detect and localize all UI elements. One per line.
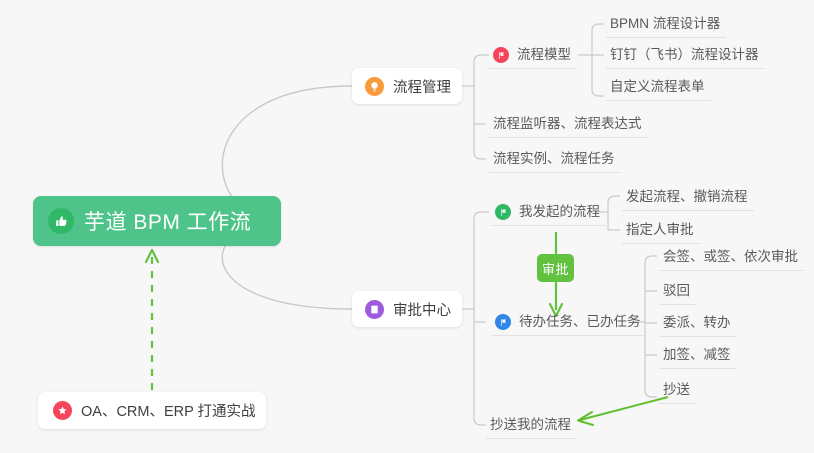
topic-custom-form[interactable]: 自定义流程表单 [606, 76, 711, 101]
arrow-cc-line [580, 397, 668, 420]
topic-process-listener[interactable]: 流程监听器、流程表达式 [489, 113, 648, 138]
branch-label-approval-center: 审批中心 [393, 299, 451, 320]
topic-label: 我发起的流程 [519, 203, 600, 221]
wire-model-to-customform [592, 89, 604, 96]
wire-approval-to-cc [474, 418, 486, 425]
flag-icon [495, 204, 511, 220]
topic-bpmn-designer[interactable]: BPMN 流程设计器 [606, 13, 726, 38]
topic-label: 流程监听器、流程表达式 [493, 115, 642, 133]
topic-label: 抄送 [663, 381, 690, 399]
topic-label: 加签、减签 [663, 346, 731, 364]
callout-node-integration[interactable]: OA、CRM、ERP 打通实战 [38, 392, 266, 429]
root-label: 芋道 BPM 工作流 [84, 206, 251, 236]
topic-label: 驳回 [663, 282, 690, 300]
topic-label: 流程实例、流程任务 [493, 150, 615, 168]
wire-todo-to-cc [645, 390, 657, 397]
arrow-callout-head [146, 250, 158, 262]
approval-tag[interactable]: 审批 [537, 254, 574, 282]
flag-icon [493, 47, 509, 63]
thumbs-up-icon [48, 208, 74, 234]
wire-todo-to-countersign [645, 256, 657, 263]
topic-process-instance[interactable]: 流程实例、流程任务 [489, 148, 621, 173]
topic-label: 钉钉（飞书）流程设计器 [610, 46, 759, 64]
star-icon [53, 401, 72, 420]
wire-approval-to-started [474, 212, 489, 219]
topic-label: BPMN 流程设计器 [610, 15, 720, 33]
lightbulb-icon [365, 77, 384, 96]
branch-node-approval-center[interactable]: 审批中心 [352, 291, 462, 327]
topic-countersign[interactable]: 会签、或签、依次审批 [659, 246, 804, 271]
topic-label: 流程模型 [517, 46, 571, 64]
wire-process-to-instance [474, 152, 486, 159]
flag-icon [495, 314, 511, 330]
root-node[interactable]: 芋道 BPM 工作流 [33, 196, 281, 246]
branch-node-process-management[interactable]: 流程管理 [352, 68, 462, 104]
wire-model-to-bpmn [592, 24, 604, 31]
approval-tag-label: 审批 [542, 259, 569, 278]
topic-todo-done-tasks[interactable]: 待办任务、已办任务 [491, 311, 647, 336]
topic-label: 指定人审批 [626, 221, 694, 239]
topic-assignee-approval[interactable]: 指定人审批 [622, 219, 700, 244]
topic-delegate-transfer[interactable]: 委派、转办 [659, 312, 737, 337]
topic-label: 会签、或签、依次审批 [663, 248, 798, 266]
topic-my-started-process[interactable]: 我发起的流程 [491, 201, 606, 226]
arrow-cc-head [578, 412, 593, 425]
topic-process-model[interactable]: 流程模型 [489, 44, 577, 69]
wire-process-to-model [474, 55, 489, 62]
topic-cc[interactable]: 抄送 [659, 379, 696, 404]
wire-started-to-launch [608, 196, 620, 203]
topic-reject[interactable]: 驳回 [659, 280, 696, 305]
topic-label: 委派、转办 [663, 314, 731, 332]
clipboard-icon [365, 300, 384, 319]
branch-label-process-management: 流程管理 [393, 76, 451, 97]
topic-label: 发起流程、撤销流程 [626, 188, 748, 206]
topic-add-remove-sign[interactable]: 加签、减签 [659, 344, 737, 369]
topic-label: 待办任务、已办任务 [519, 313, 641, 331]
topic-launch-cancel[interactable]: 发起流程、撤销流程 [622, 186, 754, 211]
mindmap-canvas: 芋道 BPM 工作流 流程管理 审批中心 流程模型 流程监听器、流程表达式 [0, 0, 814, 453]
topic-label: 抄送我的流程 [490, 416, 571, 434]
topic-cc-to-me[interactable]: 抄送我的流程 [486, 414, 577, 439]
topic-dingtalk-designer[interactable]: 钉钉（飞书）流程设计器 [606, 44, 765, 69]
callout-label: OA、CRM、ERP 打通实战 [81, 400, 256, 421]
topic-label: 自定义流程表单 [610, 78, 705, 96]
